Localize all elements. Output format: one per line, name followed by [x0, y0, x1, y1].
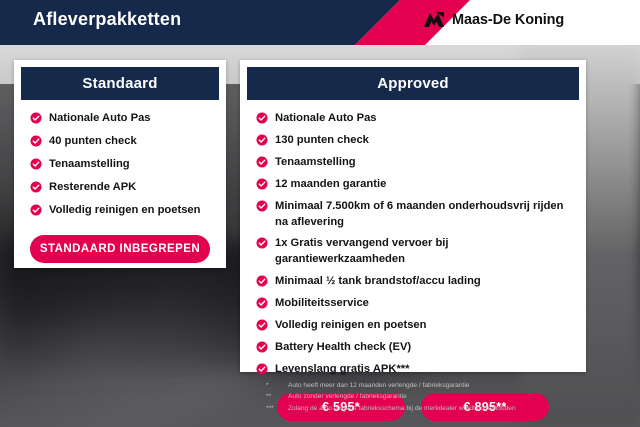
feature-item: Tenaamstelling	[256, 155, 570, 171]
footnote-text: Auto heeft meer dan 12 maanden verlengde…	[288, 380, 632, 391]
check-circle-icon	[256, 200, 268, 212]
check-circle-icon	[30, 158, 42, 170]
feature-label: Volledig reinigen en poetsen	[275, 318, 426, 334]
check-circle-icon	[30, 112, 42, 124]
feature-item: 1x Gratis vervangend vervoer bij garanti…	[256, 236, 570, 268]
footnote-marker: ***	[266, 403, 288, 414]
feature-item: 40 punten check	[30, 134, 210, 150]
approved-feature-list: Nationale Auto Pas130 punten checkTenaam…	[247, 100, 579, 378]
footnote-text: Auto zonder verlengde / fabrieksgarantie	[288, 391, 632, 402]
check-circle-icon	[30, 204, 42, 216]
maas-de-koning-logo-icon	[423, 11, 445, 28]
feature-label: Minimaal 7.500km of 6 maanden onderhouds…	[275, 199, 570, 231]
standard-feature-list: Nationale Auto Pas40 punten checkTenaams…	[21, 100, 219, 219]
footnote-row: *Auto heeft meer dan 12 maanden verlengd…	[266, 380, 632, 391]
feature-item: Levenslang gratis APK***	[256, 362, 570, 378]
feature-label: Nationale Auto Pas	[275, 111, 377, 127]
check-circle-icon	[256, 134, 268, 146]
page-header: Afleverpakketten Maas-De Koning	[0, 0, 640, 45]
feature-label: Volledig reinigen en poetsen	[49, 203, 200, 219]
feature-label: Tenaamstelling	[275, 155, 356, 171]
feature-item: Minimaal 7.500km of 6 maanden onderhouds…	[256, 199, 570, 231]
feature-label: Nationale Auto Pas	[49, 111, 151, 127]
footnotes: *Auto heeft meer dan 12 maanden verlengd…	[266, 380, 632, 414]
feature-item: Tenaamstelling	[30, 157, 210, 173]
feature-label: 40 punten check	[49, 134, 137, 150]
footnote-text: Zolang de auto volgens fabrieksschema bi…	[288, 403, 632, 414]
feature-label: Tenaamstelling	[49, 157, 130, 173]
footnote-row: **Auto zonder verlengde / fabrieksgarant…	[266, 391, 632, 402]
check-circle-icon	[30, 135, 42, 147]
feature-label: Minimaal ½ tank brandstof/accu lading	[275, 274, 481, 290]
standard-button-row: STANDAARD INBEGREPEN	[21, 226, 219, 263]
delivery-packages-slide: Afleverpakketten Maas-De Koning Standaar…	[0, 0, 640, 427]
feature-label: Battery Health check (EV)	[275, 340, 411, 356]
feature-item: Nationale Auto Pas	[30, 111, 210, 127]
feature-item: Volledig reinigen en poetsen	[30, 203, 210, 219]
feature-label: Resterende APK	[49, 180, 136, 196]
check-circle-icon	[256, 297, 268, 309]
footnote-row: ***Zolang de auto volgens fabrieksschema…	[266, 403, 632, 414]
check-circle-icon	[256, 112, 268, 124]
footnote-marker: **	[266, 391, 288, 402]
page-title: Afleverpakketten	[33, 9, 181, 30]
check-circle-icon	[256, 319, 268, 331]
feature-item: Mobiliteitsservice	[256, 296, 570, 312]
approved-package-card: Approved Nationale Auto Pas130 punten ch…	[240, 60, 586, 372]
feature-label: Levenslang gratis APK***	[275, 362, 410, 378]
standard-included-button[interactable]: STANDAARD INBEGREPEN	[30, 235, 210, 263]
standard-card-heading: Standaard	[21, 67, 219, 100]
feature-item: Nationale Auto Pas	[256, 111, 570, 127]
feature-item: Volledig reinigen en poetsen	[256, 318, 570, 334]
check-circle-icon	[30, 181, 42, 193]
feature-label: 1x Gratis vervangend vervoer bij garanti…	[275, 236, 570, 268]
brand-name: Maas-De Koning	[452, 12, 564, 28]
check-circle-icon	[256, 237, 268, 249]
feature-label: Mobiliteitsservice	[275, 296, 369, 312]
feature-item: Resterende APK	[30, 180, 210, 196]
check-circle-icon	[256, 178, 268, 190]
check-circle-icon	[256, 341, 268, 353]
feature-item: 12 maanden garantie	[256, 177, 570, 193]
footnote-marker: *	[266, 380, 288, 391]
feature-item: Minimaal ½ tank brandstof/accu lading	[256, 274, 570, 290]
approved-card-heading: Approved	[247, 67, 579, 100]
feature-label: 12 maanden garantie	[275, 177, 386, 193]
check-circle-icon	[256, 363, 268, 375]
brand-lockup: Maas-De Koning	[423, 11, 564, 28]
feature-item: Battery Health check (EV)	[256, 340, 570, 356]
check-circle-icon	[256, 275, 268, 287]
standard-package-card: Standaard Nationale Auto Pas40 punten ch…	[14, 60, 226, 268]
feature-item: 130 punten check	[256, 133, 570, 149]
feature-label: 130 punten check	[275, 133, 369, 149]
check-circle-icon	[256, 156, 268, 168]
